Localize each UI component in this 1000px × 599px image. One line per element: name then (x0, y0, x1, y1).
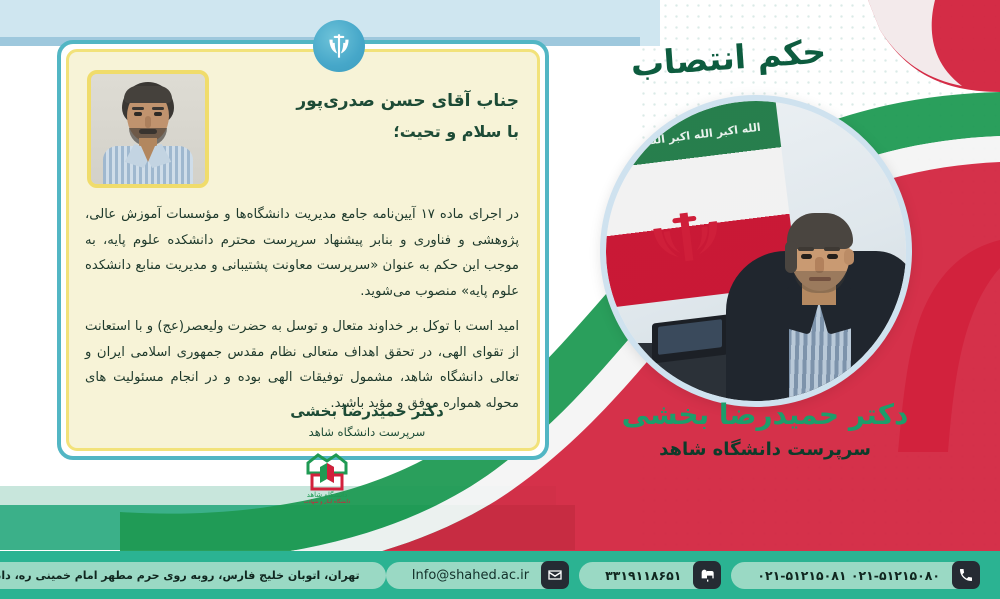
footer-address-group: تهران، اتوبان خلیج فارس، روبه روی حرم مط… (0, 562, 386, 589)
signature-role: سرپرست دانشگاه شاهد (217, 423, 517, 441)
letter-paragraph-1: در اجرای ماده ۱۷ آیین‌نامه جامع مدیریت د… (85, 202, 519, 305)
bottom-band-green (0, 505, 575, 550)
svg-text:دانشگاه شاهد: دانشگاه شاهد (307, 490, 348, 499)
appointee-photo (87, 70, 209, 188)
footer-phone-group: ۰۲۱-۵۱۲۱۵۰۸۰ ۰۲۱-۵۱۲۱۵۰۸۱ (731, 562, 980, 589)
svg-text:دانشگاه ایثار و شهادت: دانشگاه ایثار و شهادت (304, 498, 351, 505)
mailbox-icon (693, 561, 721, 589)
letter-signature: دکتر حمیدرضا بخشی سرپرست دانشگاه شاهد (217, 400, 517, 441)
footer-address: تهران، اتوبان خلیج فارس، روبه روی حرم مط… (0, 569, 372, 582)
salutation-line-2: با سلام و تحیت؛ (219, 117, 519, 147)
phone-icon (952, 561, 980, 589)
appointment-decree-poster: جناب آقای حسن صدری‌پور با سلام و تحیت؛ د… (0, 0, 1000, 599)
letter-inner: جناب آقای حسن صدری‌پور با سلام و تحیت؛ د… (66, 49, 540, 451)
footer-email: Info@shahed.ac.ir (400, 568, 541, 583)
feature-caption: دکتر حمیدرضا بخشی سرپرست دانشگاه شاهد (565, 395, 965, 467)
iran-national-emblem-icon (313, 20, 365, 72)
flag-emblem-icon (628, 187, 745, 280)
footer-phones: ۰۲۱-۵۱۲۱۵۰۸۰ ۰۲۱-۵۱۲۱۵۰۸۱ (745, 568, 952, 583)
footer-email-group: Info@shahed.ac.ir (386, 562, 569, 589)
footer-postal-group: ۳۳۱۹۱۱۸۶۵۱ (579, 562, 721, 589)
envelope-icon (541, 561, 569, 589)
feature-name: دکتر حمیدرضا بخشی (565, 395, 965, 434)
footer-postal-code: ۳۳۱۹۱۱۸۶۵۱ (593, 568, 693, 583)
letter-body: در اجرای ماده ۱۷ آیین‌نامه جامع مدیریت د… (85, 202, 519, 426)
bottom-band-pale (0, 486, 556, 506)
feature-role: سرپرست دانشگاه شاهد (565, 434, 965, 466)
letter-card: جناب آقای حسن صدری‌پور با سلام و تحیت؛ د… (57, 40, 549, 460)
shahed-university-logo-icon: دانشگاه شاهد دانشگاه ایثار و شهادت (298, 443, 356, 505)
footer-bar: ۰۲۱-۵۱۲۱۵۰۸۰ ۰۲۱-۵۱۲۱۵۰۸۱ ۳۳۱۹۱۱۸۶۵۱ Inf… (0, 551, 1000, 599)
signature-name: دکتر حمیدرضا بخشی (217, 400, 517, 423)
salutation: جناب آقای حسن صدری‌پور با سلام و تحیت؛ (219, 86, 519, 147)
feature-portrait: الله اکبر الله اکبر الله اکبر (600, 95, 912, 407)
salutation-line-1: جناب آقای حسن صدری‌پور (219, 86, 519, 117)
